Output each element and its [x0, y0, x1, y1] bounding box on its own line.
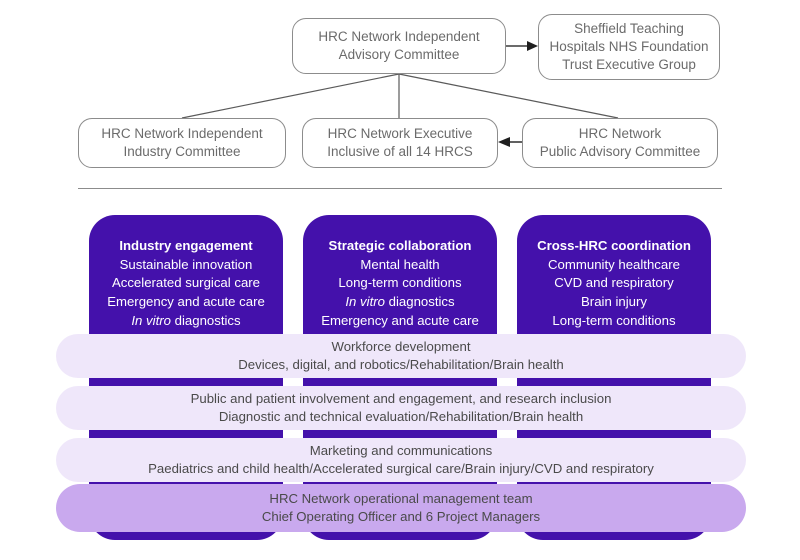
hrc-network-public-advisory-committee-box: HRC Network Public Advisory Committee: [522, 118, 718, 168]
column-2-item-2: Long-term conditions: [309, 274, 491, 293]
section-divider: [78, 188, 722, 189]
band-operational-management-team: HRC Network operational management team …: [56, 484, 746, 532]
column-3-item-4: Long-term conditions: [523, 312, 705, 331]
column-1-title: Industry engagement: [95, 237, 277, 256]
band-marketing-communications: Marketing and communications Paediatrics…: [56, 438, 746, 482]
column-1-item-4: In vitro diagnostics: [95, 312, 277, 331]
column-1-item-3: Emergency and acute care: [95, 293, 277, 312]
column-1-item-1: Sustainable innovation: [95, 256, 277, 275]
column-3-title: Cross-HRC coordination: [523, 237, 705, 256]
column-1-item-2: Accelerated surgical care: [95, 274, 277, 293]
band-1-line-2: Devices, digital, and robotics/Rehabilit…: [238, 356, 563, 374]
column-2-item-4: Emergency and acute care: [309, 312, 491, 331]
band-2-line-2: Diagnostic and technical evaluation/Reha…: [219, 408, 583, 426]
connector-advisory-to-industry: [182, 74, 399, 118]
hrc-network-independent-advisory-committee-box: HRC Network Independent Advisory Committ…: [292, 18, 506, 74]
band-4-line-2: Chief Operating Officer and 6 Project Ma…: [262, 508, 540, 526]
band-3-line-2: Paediatrics and child health/Accelerated…: [148, 460, 654, 478]
band-workforce-development: Workforce development Devices, digital, …: [56, 334, 746, 378]
column-3-item-2: CVD and respiratory: [523, 274, 705, 293]
band-2-line-1: Public and patient involvement and engag…: [191, 390, 612, 408]
connector-advisory-to-public: [399, 74, 618, 118]
column-2-item-3: In vitro diagnostics: [309, 293, 491, 312]
arrowhead-to-sheffield: [527, 41, 538, 51]
column-2-title: Strategic collaboration: [309, 237, 491, 256]
sheffield-teaching-hospitals-nhs-foundation-trust-executive-group-box: Sheffield Teaching Hospitals NHS Foundat…: [538, 14, 720, 80]
hrc-network-executive-box: HRC Network Executive Inclusive of all 1…: [302, 118, 498, 168]
band-4-line-1: HRC Network operational management team: [269, 490, 532, 508]
column-2-item-1: Mental health: [309, 256, 491, 275]
band-1-line-1: Workforce development: [331, 338, 470, 356]
column-3-item-1: Community healthcare: [523, 256, 705, 275]
hrc-network-independent-industry-committee-box: HRC Network Independent Industry Committ…: [78, 118, 286, 168]
org-structure-diagram: HRC Network Independent Advisory Committ…: [0, 0, 800, 560]
column-3-item-3: Brain injury: [523, 293, 705, 312]
band-3-line-1: Marketing and communications: [310, 442, 493, 460]
column-2-text: Strategic collaboration Mental health Lo…: [303, 237, 497, 331]
column-3-text: Cross-HRC coordination Community healthc…: [517, 237, 711, 331]
column-1-text: Industry engagement Sustainable innovati…: [89, 237, 283, 331]
arrowhead-to-executive: [498, 137, 510, 147]
band-public-patient-involvement: Public and patient involvement and engag…: [56, 386, 746, 430]
